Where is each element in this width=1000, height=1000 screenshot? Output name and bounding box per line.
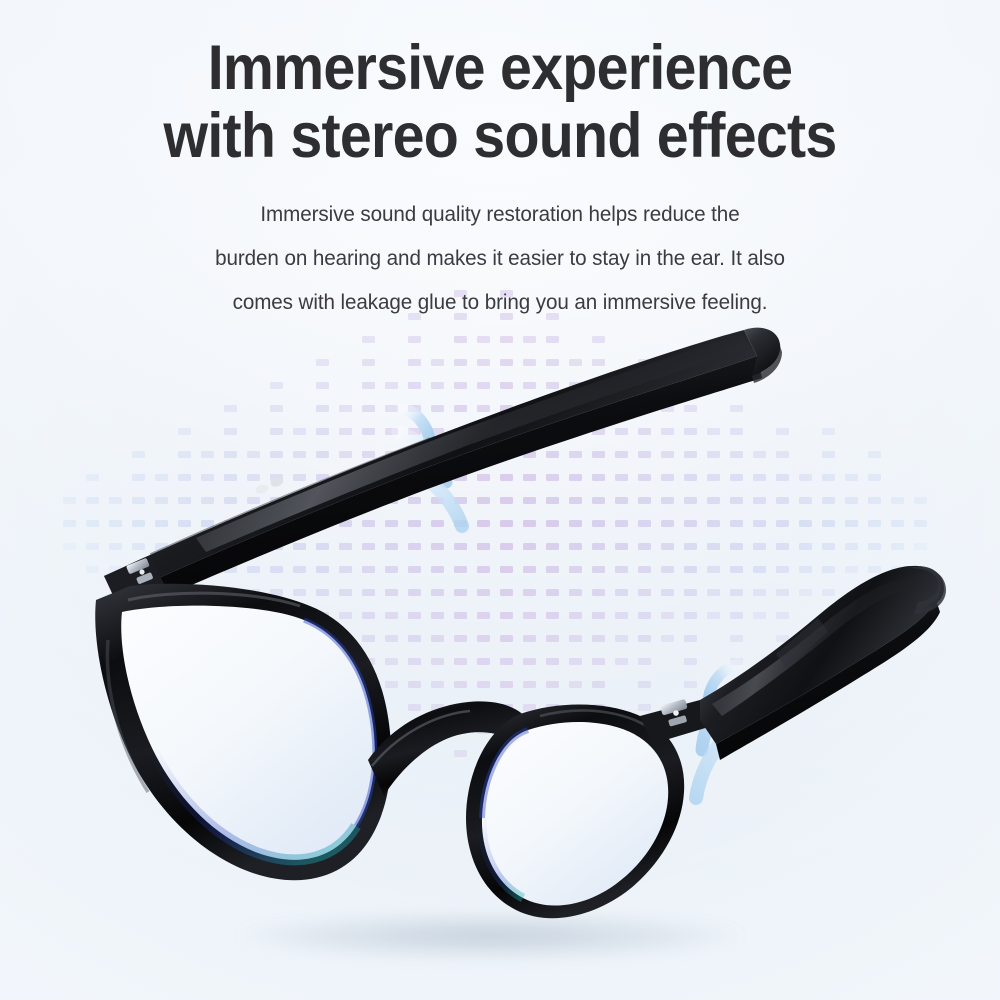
left-lens-rim (95, 584, 391, 880)
equalizer-dot (178, 566, 191, 573)
equalizer-dot (845, 520, 858, 527)
equalizer-dot (753, 520, 766, 527)
equalizer-dot (661, 566, 674, 573)
equalizer-dot (868, 520, 881, 527)
equalizer-dot (132, 520, 145, 527)
equalizer-dot (408, 428, 421, 435)
equalizer-dot (684, 658, 697, 665)
equalizer-dot (638, 612, 651, 619)
equalizer-dot (362, 405, 375, 412)
equalizer-dot (546, 497, 559, 504)
equalizer-dot (270, 589, 283, 596)
equalizer-dot (178, 543, 191, 550)
equalizer-dot (178, 497, 191, 504)
equalizer-dot (569, 658, 582, 665)
equalizer-dot (431, 451, 444, 458)
equalizer-dot (661, 543, 674, 550)
equalizer-dot (546, 589, 559, 596)
equalizer-dot (339, 589, 352, 596)
equalizer-dot (684, 428, 697, 435)
equalizer-dot (201, 520, 214, 527)
equalizer-dot (362, 336, 375, 343)
equalizer-dot (454, 727, 467, 734)
equalizer-dot (454, 566, 467, 573)
equalizer-dot (132, 543, 145, 550)
equalizer-dot (523, 566, 536, 573)
equalizer-dot (224, 520, 237, 527)
equalizer-dot (592, 336, 605, 343)
equalizer-dot (339, 658, 352, 665)
equalizer-dot (868, 589, 881, 596)
equalizer-dot (431, 474, 444, 481)
equalizer-dot (638, 405, 651, 412)
equalizer-dot (891, 543, 904, 550)
equalizer-dot (799, 474, 812, 481)
equalizer-dot (270, 474, 283, 481)
equalizer-dot (615, 382, 628, 389)
equalizer-dot (868, 497, 881, 504)
equalizer-dot (500, 681, 513, 688)
equalizer-dot (454, 382, 467, 389)
equalizer-dot (293, 520, 306, 527)
equalizer-dot (569, 359, 582, 366)
equalizer-dot (408, 382, 421, 389)
equalizer-dot (293, 635, 306, 642)
equalizer-dot (592, 497, 605, 504)
equalizer-dot (776, 612, 789, 619)
equalizer-dot (914, 497, 927, 504)
equalizer-dot (339, 405, 352, 412)
equalizer-dot (178, 428, 191, 435)
equalizer-dot (316, 382, 329, 389)
equalizer-dot (408, 405, 421, 412)
equalizer-dot (224, 635, 237, 642)
equalizer-dot (592, 428, 605, 435)
equalizer-dot (224, 612, 237, 619)
equalizer-dot (316, 612, 329, 619)
equalizer-dot (684, 612, 697, 619)
equalizer-dot (500, 336, 513, 343)
equalizer-dot (730, 428, 743, 435)
equalizer-dot (224, 428, 237, 435)
equalizer-dot (638, 543, 651, 550)
equalizer-dot (86, 520, 99, 527)
equalizer-dot (753, 474, 766, 481)
equalizer-dot (431, 543, 444, 550)
equalizer-dot (224, 566, 237, 573)
equalizer-dot (224, 543, 237, 550)
equalizer-dot (707, 612, 720, 619)
equalizer-dot (431, 405, 444, 412)
equalizer-dot (293, 428, 306, 435)
equalizer-dot (86, 543, 99, 550)
equalizer-dot (523, 704, 536, 711)
equalizer-dot (615, 405, 628, 412)
equalizer-dot (776, 543, 789, 550)
equalizer-dot (523, 681, 536, 688)
equalizer-dot (408, 566, 421, 573)
equalizer-dot (477, 497, 490, 504)
equalizer-dot (638, 658, 651, 665)
equalizer-dot (155, 474, 168, 481)
equalizer-dot (63, 497, 76, 504)
equalizer-dot (132, 566, 145, 573)
equalizer-dot (799, 566, 812, 573)
equalizer-dot (523, 359, 536, 366)
equalizer-dot (661, 405, 674, 412)
equalizer-dot (707, 520, 720, 527)
equalizer-dot (500, 497, 513, 504)
equalizer-dot (178, 589, 191, 596)
equalizer-dot (316, 359, 329, 366)
equalizer-dot (546, 658, 559, 665)
equalizer-dot (408, 543, 421, 550)
equalizer-dot (615, 658, 628, 665)
equalizer-dot (385, 451, 398, 458)
equalizer-dot (638, 359, 651, 366)
equalizer-dot (592, 382, 605, 389)
equalizer-dot (132, 451, 145, 458)
equalizer-dot (316, 474, 329, 481)
equalizer-dot (546, 727, 559, 734)
equalizer-dot (293, 451, 306, 458)
equalizer-dot (408, 497, 421, 504)
equalizer-dot (569, 520, 582, 527)
equalizer-dot (408, 727, 421, 734)
equalizer-dot (546, 474, 559, 481)
equalizer-dot (408, 359, 421, 366)
equalizer-dot (684, 635, 697, 642)
equalizer-dot (776, 635, 789, 642)
equalizer-dot (822, 474, 835, 481)
equalizer-dot (592, 405, 605, 412)
equalizer-dot (776, 520, 789, 527)
equalizer-dot (86, 474, 99, 481)
equalizer-dot (569, 543, 582, 550)
equalizer-dot (592, 612, 605, 619)
equalizer-dot (224, 451, 237, 458)
equalizer-dot (362, 681, 375, 688)
equalizer-dot (546, 520, 559, 527)
equalizer-dot (247, 497, 260, 504)
equalizer-dot (362, 520, 375, 527)
equalizer-dot (454, 336, 467, 343)
equalizer-dot (362, 451, 375, 458)
equalizer-dot (385, 635, 398, 642)
equalizer-dot (385, 658, 398, 665)
equalizer-dot (431, 704, 444, 711)
equalizer-dot (500, 612, 513, 619)
equalizer-dot (316, 658, 329, 665)
equalizer-dot (914, 520, 927, 527)
equalizer-dot (776, 497, 789, 504)
equalizer-dot (500, 474, 513, 481)
equalizer-dot (730, 520, 743, 527)
equalizer-dot (109, 566, 122, 573)
equalizer-dot (63, 543, 76, 550)
equalizer-dot (201, 451, 214, 458)
equalizer-dot (362, 566, 375, 573)
equalizer-dot (569, 612, 582, 619)
page-title: Immersive experience with stereo sound e… (45, 0, 955, 170)
equalizer-dot (615, 635, 628, 642)
equalizer-dot (638, 704, 651, 711)
equalizer-dot (293, 497, 306, 504)
equalizer-dot (477, 382, 490, 389)
equalizer-dot (362, 543, 375, 550)
sound-arc-middle (398, 432, 446, 482)
equalizer-dot (868, 451, 881, 458)
equalizer-dot (615, 428, 628, 435)
equalizer-dot (270, 658, 283, 665)
equalizer-dot (546, 681, 559, 688)
equalizer-dot (638, 520, 651, 527)
equalizer-dot (408, 336, 421, 343)
equalizer-dot (684, 451, 697, 458)
equalizer-dot (431, 520, 444, 527)
equalizer-dot (339, 543, 352, 550)
equalizer-dot (845, 543, 858, 550)
equalizer-dot (546, 428, 559, 435)
copy-block: Immersive experience with stereo sound e… (0, 0, 1000, 324)
equalizer-dot (661, 451, 674, 458)
equalizer-dot (500, 382, 513, 389)
equalizer-dot (454, 474, 467, 481)
equalizer-dot (500, 520, 513, 527)
equalizer-dot (454, 428, 467, 435)
equalizer-dot (293, 589, 306, 596)
left-hinge (104, 556, 164, 606)
right-hinge (640, 699, 712, 744)
equalizer-dot (362, 589, 375, 596)
equalizer-dot (523, 635, 536, 642)
equalizer-dot (477, 612, 490, 619)
sound-arc-outer (696, 700, 808, 798)
equalizer-dot (408, 612, 421, 619)
equalizer-dot (592, 681, 605, 688)
equalizer-dot (63, 520, 76, 527)
equalizer-dot (500, 704, 513, 711)
equalizer-dot (546, 612, 559, 619)
product-ground-shadow (160, 905, 820, 967)
equalizer-dot (477, 543, 490, 550)
equalizer-dot (270, 497, 283, 504)
equalizer-dot (523, 382, 536, 389)
equalizer-dot (523, 658, 536, 665)
product-banner: Immersive experience with stereo sound e… (0, 0, 1000, 1000)
equalizer-dot (408, 635, 421, 642)
equalizer-dot (546, 543, 559, 550)
equalizer-dot (454, 359, 467, 366)
equalizer-dot (477, 635, 490, 642)
equalizer-dot (546, 566, 559, 573)
equalizer-dot (523, 405, 536, 412)
description-line-1: Immersive sound quality restoration help… (20, 192, 980, 236)
equalizer-dot (477, 704, 490, 711)
equalizer-dot (730, 497, 743, 504)
equalizer-dot (615, 497, 628, 504)
equalizer-dot (684, 405, 697, 412)
equalizer-dot (753, 566, 766, 573)
equalizer-dot (500, 727, 513, 734)
equalizer-dot (569, 566, 582, 573)
equalizer-dot (845, 474, 858, 481)
equalizer-dot (201, 566, 214, 573)
equalizer-dot (362, 704, 375, 711)
equalizer-dot (385, 612, 398, 619)
equalizer-dot (477, 405, 490, 412)
equalizer-dot (431, 681, 444, 688)
equalizer-dot (891, 497, 904, 504)
equalizer-dot (109, 497, 122, 504)
description-line-2: burden on hearing and makes it easier to… (20, 236, 980, 280)
equalizer-dot (477, 589, 490, 596)
equalizer-dot (523, 428, 536, 435)
equalizer-dot (477, 451, 490, 458)
equalizer-dot (178, 520, 191, 527)
equalizer-dot (776, 451, 789, 458)
equalizer-dot (845, 566, 858, 573)
equalizer-dot (339, 451, 352, 458)
equalizer-dot (316, 520, 329, 527)
equalizer-dot (592, 635, 605, 642)
equalizer-dot (431, 658, 444, 665)
equalizer-dot (362, 497, 375, 504)
equalizer-dot (753, 543, 766, 550)
right-temple-arm (700, 566, 946, 760)
equalizer-dot (454, 681, 467, 688)
equalizer-dot (431, 635, 444, 642)
equalizer-dot (339, 635, 352, 642)
equalizer-dot (339, 428, 352, 435)
equalizer-dot (477, 727, 490, 734)
equalizer-dot (730, 405, 743, 412)
equalizer-dot (132, 497, 145, 504)
equalizer-dot (730, 658, 743, 665)
speaker-hole (269, 476, 284, 488)
equalizer-dot (615, 543, 628, 550)
equalizer-dot (845, 497, 858, 504)
equalizer-dot (569, 474, 582, 481)
equalizer-dot (684, 497, 697, 504)
equalizer-dot (155, 589, 168, 596)
equalizer-dot (339, 520, 352, 527)
equalizer-dot (546, 336, 559, 343)
equalizer-dot (178, 451, 191, 458)
equalizer-dot (316, 566, 329, 573)
equalizer-dot (270, 635, 283, 642)
equalizer-dot (316, 635, 329, 642)
equalizer-dot (592, 704, 605, 711)
equalizer-dot (86, 566, 99, 573)
equalizer-dot (891, 566, 904, 573)
nose-bridge (368, 701, 530, 796)
equalizer-dot (523, 612, 536, 619)
equalizer-dot (431, 497, 444, 504)
equalizer-dot (477, 336, 490, 343)
equalizer-dot (454, 658, 467, 665)
equalizer-dot (431, 566, 444, 573)
equalizer-dot (500, 313, 513, 320)
equalizer-dot (224, 497, 237, 504)
equalizer-dot (638, 428, 651, 435)
equalizer-dot (362, 474, 375, 481)
sound-arc-inner (708, 664, 738, 704)
equalizer-dot (546, 635, 559, 642)
equalizer-dot (730, 474, 743, 481)
equalizer-dot (891, 520, 904, 527)
equalizer-dot (753, 497, 766, 504)
equalizer-dot (316, 543, 329, 550)
equalizer-dot (638, 566, 651, 573)
equalizer-dot (822, 589, 835, 596)
equalizer-dot (362, 612, 375, 619)
equalizer-dot (477, 566, 490, 573)
background-fade-veil (0, 0, 1000, 1000)
equalizer-dot (615, 566, 628, 573)
equalizer-background-pattern (0, 0, 1000, 1000)
equalizer-dot (408, 589, 421, 596)
equalizer-dot (408, 681, 421, 688)
equalizer-dot (155, 497, 168, 504)
equalizer-dot (224, 589, 237, 596)
equalizer-dot (730, 589, 743, 596)
equalizer-dot (753, 612, 766, 619)
equalizer-dot (155, 566, 168, 573)
equalizer-dot (592, 566, 605, 573)
equalizer-dot (316, 405, 329, 412)
equalizer-dot (661, 612, 674, 619)
equalizer-dot (523, 336, 536, 343)
equalizer-dot (730, 612, 743, 619)
equalizer-dot (753, 451, 766, 458)
equalizer-dot (615, 451, 628, 458)
equalizer-dot (684, 566, 697, 573)
description-line-3: comes with leakage glue to bring you an … (20, 280, 980, 324)
equalizer-dot (500, 589, 513, 596)
equalizer-dot (247, 474, 260, 481)
sound-wave-left-group (372, 396, 592, 606)
equalizer-dot (201, 474, 214, 481)
equalizer-dot (615, 589, 628, 596)
equalizer-dot (500, 658, 513, 665)
equalizer-dot (385, 681, 398, 688)
equalizer-dot (546, 313, 559, 320)
equalizer-dot (408, 658, 421, 665)
equalizer-dot (661, 428, 674, 435)
equalizer-dot (799, 543, 812, 550)
equalizer-dot (638, 681, 651, 688)
equalizer-dot (201, 497, 214, 504)
equalizer-dot (500, 543, 513, 550)
equalizer-dot (201, 589, 214, 596)
equalizer-dot (339, 566, 352, 573)
equalizer-dot (500, 635, 513, 642)
equalizer-dot (316, 497, 329, 504)
equalizer-dot (822, 612, 835, 619)
equalizer-dot (707, 589, 720, 596)
equalizer-dot (500, 405, 513, 412)
equalizer-dot (385, 405, 398, 412)
equalizer-dot (569, 405, 582, 412)
equalizer-dot (776, 474, 789, 481)
equalizer-dot (293, 566, 306, 573)
equalizer-dot (247, 543, 260, 550)
right-lens (482, 722, 668, 905)
equalizer-dot (546, 451, 559, 458)
equalizer-dot (316, 681, 329, 688)
equalizer-dot (684, 474, 697, 481)
